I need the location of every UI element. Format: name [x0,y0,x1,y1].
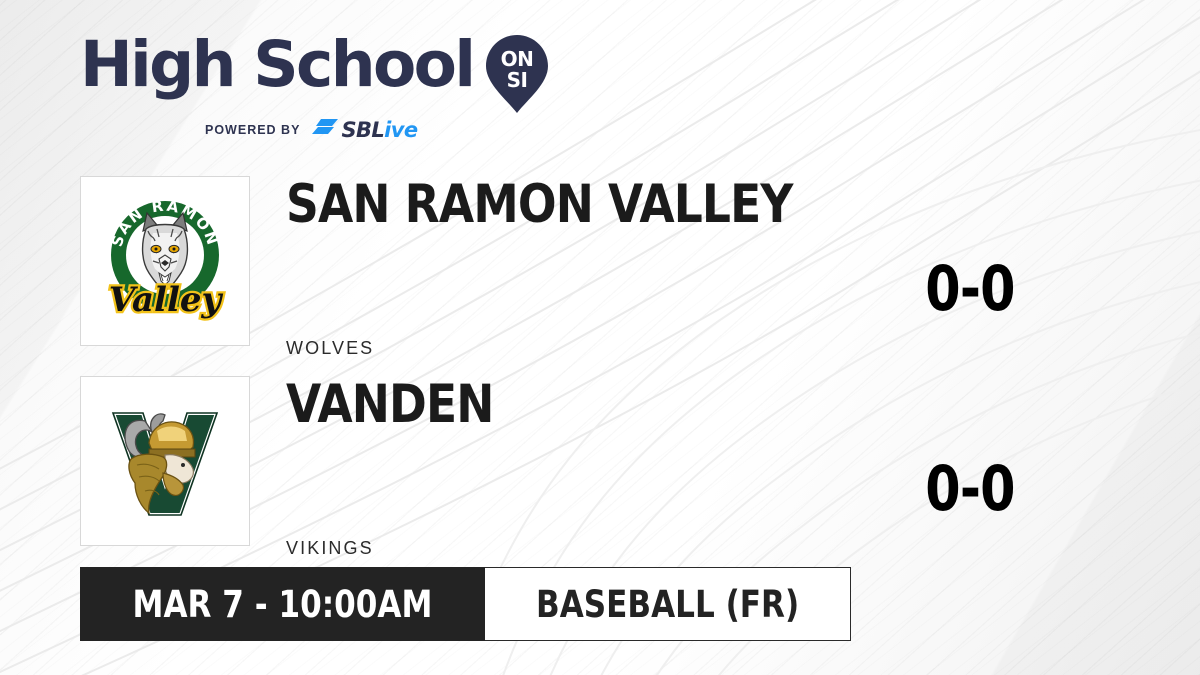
away-team-name: SAN RAMON VALLEY [286,178,793,231]
powered-by-label: POWERED BY [205,123,300,137]
game-sport-text: BASEBALL (FR) [536,583,799,626]
game-datetime-chip: MAR 7 - 10:00AM [80,567,485,641]
brand-title: High School [80,34,473,96]
sblive-word-accent: ive [384,118,417,142]
matchup-graphic: High School ON SI POWERED BY SBLive [0,0,1200,675]
away-team-record: 0-0 [900,258,1039,320]
brand-logo: High School ON SI POWERED BY SBLive [80,34,510,138]
sblive-bolt-icon [312,119,338,141]
vanden-vikings-logo [91,387,239,535]
away-team-mascot: WOLVES [286,338,374,359]
san-ramon-valley-wolves-logo: SAN RAMON Valley [91,187,239,335]
pin-label-si: SI [507,68,528,92]
home-team-name: VANDEN [286,378,494,431]
home-team-record: 0-0 [900,458,1039,520]
home-team-logo-box [80,376,250,546]
sblive-word-dark: SBL [341,118,384,142]
game-info-bar: MAR 7 - 10:00AM BASEBALL (FR) [80,567,851,641]
sblive-logo: SBLive [312,118,417,142]
srv-script-text: Valley [109,280,224,320]
away-team-logo-box: SAN RAMON Valley [80,176,250,346]
game-datetime-text: MAR 7 - 10:00AM [133,583,433,626]
on-si-pin-icon: ON SI [486,35,548,113]
sblive-wordmark: SBLive [341,118,417,142]
game-sport-chip: BASEBALL (FR) [485,567,851,641]
home-team-mascot: VIKINGS [286,538,374,559]
